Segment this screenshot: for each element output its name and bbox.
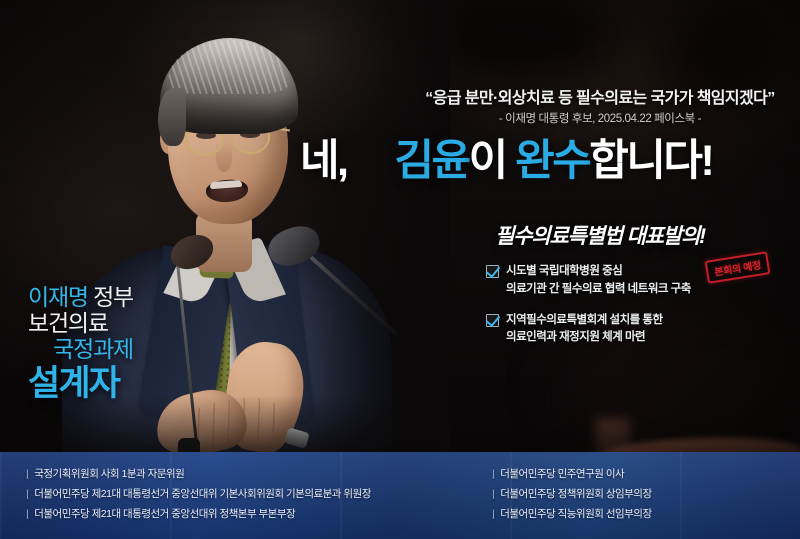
tagline-line-3: 국정과제 xyxy=(28,336,133,362)
checkbox-check-icon xyxy=(486,265,499,278)
bullet-line-1: 시도별 국립대학병원 중심 xyxy=(506,265,622,277)
checkbox-check-icon xyxy=(486,314,499,327)
main-headline: 네,김윤이 완수합니다! xyxy=(300,140,796,183)
credential-text: 국정기획위원회 사회 1분과 자문위원 xyxy=(34,468,184,480)
headline-part-ending: 합니다! xyxy=(589,137,712,185)
credential-text: 더불어민주당 직능위원회 선임부의장 xyxy=(500,508,651,520)
bullet-line-2: 의료기관 간 필수의료 협력 네트워크 구축 xyxy=(506,283,691,295)
credential-text: 더불어민주당 민주연구원 이사 xyxy=(500,468,624,480)
headline-part-name: 김윤 xyxy=(395,137,469,185)
campaign-poster: “응급 분만·외상치료 등 필수의료는 국가가 책임지겠다” - 이재명 대통령… xyxy=(0,0,800,539)
credential-bullet-icon: | xyxy=(26,488,28,500)
credential-text: 더불어민주당 제21대 대통령선거 중앙선대위 정책본부 부본부장 xyxy=(34,508,295,520)
quote-text: “응급 분만·외상치료 등 필수의료는 국가가 책임지겠다” xyxy=(404,84,796,108)
credential-line: |더불어민주당 제21대 대통령선거 중앙선대위 기본사회위원회 기본의료분과 … xyxy=(26,484,371,504)
headline-part-accomplish: 완수 xyxy=(515,137,589,185)
tagline-line-2: 보건의료 xyxy=(28,310,133,336)
bullet-text: 지역필수의료특별회계 설치를 통한 의료인력과 재정지원 체계 마련 xyxy=(506,312,663,348)
quote-source: - 이재명 대통령 후보, 2025.04.22 페이스북 - xyxy=(404,110,796,126)
credential-bullet-icon: | xyxy=(26,508,28,520)
tagline-government: 정부 xyxy=(93,284,133,310)
tagline-line-4-designer: 설계자 xyxy=(28,364,133,404)
tagline-name-cyan: 이재명 xyxy=(28,284,88,310)
credential-line: |더불어민주당 제21대 대통령선거 중앙선대위 정책본부 부본부장 xyxy=(26,504,371,524)
credentials-column-left: |국정기획위원회 사회 1분과 자문위원 |더불어민주당 제21대 대통령선거 … xyxy=(26,464,371,524)
credential-bullet-icon: | xyxy=(26,468,28,480)
credential-text: 더불어민주당 정책위원회 상임부의장 xyxy=(500,488,651,500)
bullet-line-1: 지역필수의료특별회계 설치를 통한 xyxy=(506,314,663,326)
left-tagline-block: 이재명 정부 보건의료 국정과제 설계자 xyxy=(28,284,133,404)
tagline-line-1: 이재명 정부 xyxy=(28,284,133,310)
list-item: 지역필수의료특별회계 설치를 통한 의료인력과 재정지원 체계 마련 xyxy=(486,312,786,348)
bullet-text: 시도별 국립대학병원 중심 의료기관 간 필수의료 협력 네트워크 구축 xyxy=(506,263,691,299)
bullet-line-2: 의료인력과 재정지원 체계 마련 xyxy=(506,331,645,343)
credential-line: |더불어민주당 직능위원회 선임부의장 xyxy=(492,504,652,524)
subheadline: 필수의료특별법 대표발의! xyxy=(404,220,796,250)
credential-bullet-icon: | xyxy=(492,488,494,500)
credential-line: |국정기획위원회 사회 1분과 자문위원 xyxy=(26,464,371,484)
headline-part-yes: 네, xyxy=(300,137,347,185)
chin-shadow xyxy=(196,198,252,224)
credential-text: 더불어민주당 제21대 대통령선거 중앙선대위 기본사회위원회 기본의료분과 위… xyxy=(34,488,371,500)
credential-bullet-icon: | xyxy=(492,508,494,520)
credential-bullet-icon: | xyxy=(492,468,494,480)
credential-line: |더불어민주당 정책위원회 상임부의장 xyxy=(492,484,652,504)
credentials-band: |국정기획위원회 사회 1분과 자문위원 |더불어민주당 제21대 대통령선거 … xyxy=(0,452,800,539)
credential-line: |더불어민주당 민주연구원 이사 xyxy=(492,464,652,484)
hair-highlight xyxy=(168,40,288,94)
credentials-column-right: |더불어민주당 민주연구원 이사 |더불어민주당 정책위원회 상임부의장 |더불… xyxy=(492,464,652,524)
hair-sideburn xyxy=(158,88,186,146)
headline-part-particle: 이 xyxy=(469,137,506,185)
